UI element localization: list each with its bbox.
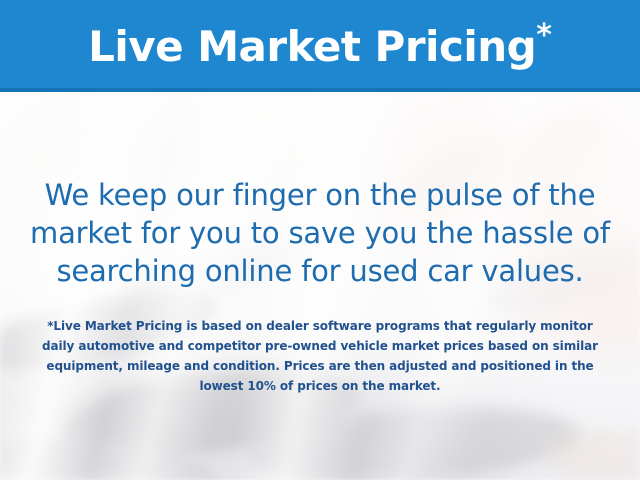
banner-title-asterisk: * xyxy=(536,18,552,53)
disclaimer-line-3: equipment, mileage and condition. Prices… xyxy=(0,356,640,376)
banner-title: Live Market Pricing* xyxy=(88,21,552,72)
live-market-pricing-slide: Live Market Pricing* We keep our finger … xyxy=(0,0,640,480)
headline-line-3: searching online for used car values. xyxy=(0,252,640,290)
banner-bottom-rule xyxy=(0,88,640,92)
disclaimer: *Live Market Pricing is based on dealer … xyxy=(0,316,640,396)
disclaimer-line-2: daily automotive and competitor pre-owne… xyxy=(0,336,640,356)
headline-line-1: We keep our finger on the pulse of the xyxy=(0,176,640,214)
banner-title-text: Live Market Pricing xyxy=(88,22,536,71)
disclaimer-line-4: lowest 10% of prices on the market. xyxy=(0,376,640,396)
headline: We keep our finger on the pulse of the m… xyxy=(0,176,640,290)
header-banner: Live Market Pricing* xyxy=(0,0,640,92)
headline-line-2: market for you to save you the hassle of xyxy=(0,214,640,252)
disclaimer-line-1: *Live Market Pricing is based on dealer … xyxy=(0,316,640,336)
